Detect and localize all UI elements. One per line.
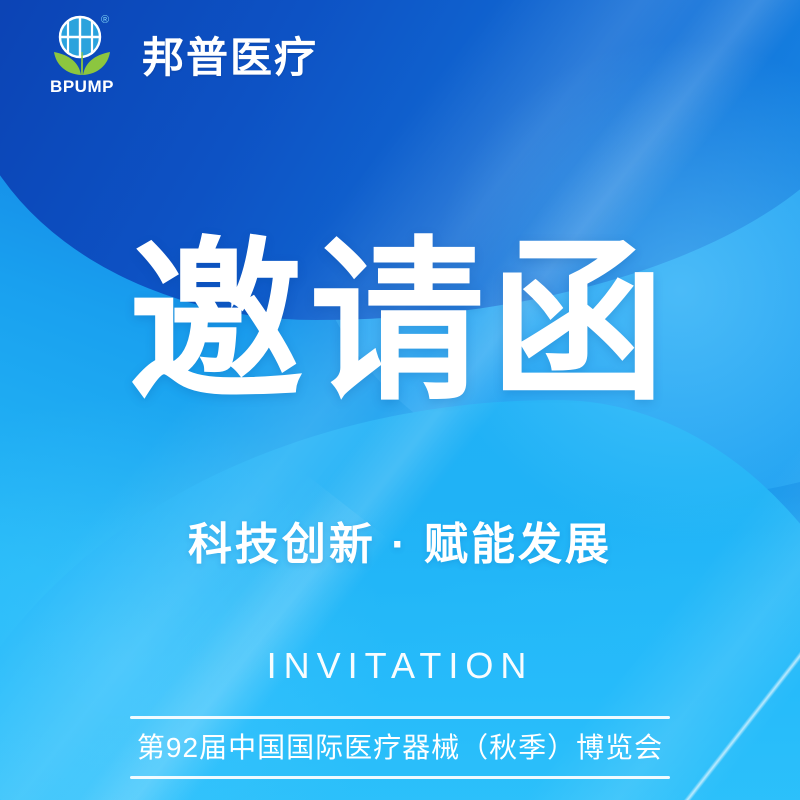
registered-trademark-icon: ® xyxy=(98,13,112,27)
poster-content: 邀请函 科技创新 · 赋能发展 INVITATION 第92届中国国际医疗器械（… xyxy=(0,0,800,800)
subtitle-slogan: 科技创新 · 赋能发展 xyxy=(0,508,800,572)
footer-block: 第92届中国国际医疗器械（秋季）博览会 xyxy=(130,716,670,779)
divider-bottom xyxy=(130,776,670,779)
invitation-english: INVITATION xyxy=(0,645,800,687)
page-title: 邀请函 xyxy=(0,236,800,411)
invitation-poster: ® BPUMP 邦普医疗 邀请函 科技创新 · 赋能发展 INVITATION … xyxy=(0,0,800,800)
bpump-logo: ® BPUMP xyxy=(44,13,120,95)
green-leaves-icon xyxy=(48,41,116,75)
event-name: 第92届中国国际医疗器械（秋季）博览会 xyxy=(130,719,670,776)
brand-name: 邦普医疗 xyxy=(142,24,318,85)
brand-header: ® BPUMP 邦普医疗 xyxy=(0,0,800,108)
logo-wordmark: BPUMP xyxy=(44,77,120,97)
